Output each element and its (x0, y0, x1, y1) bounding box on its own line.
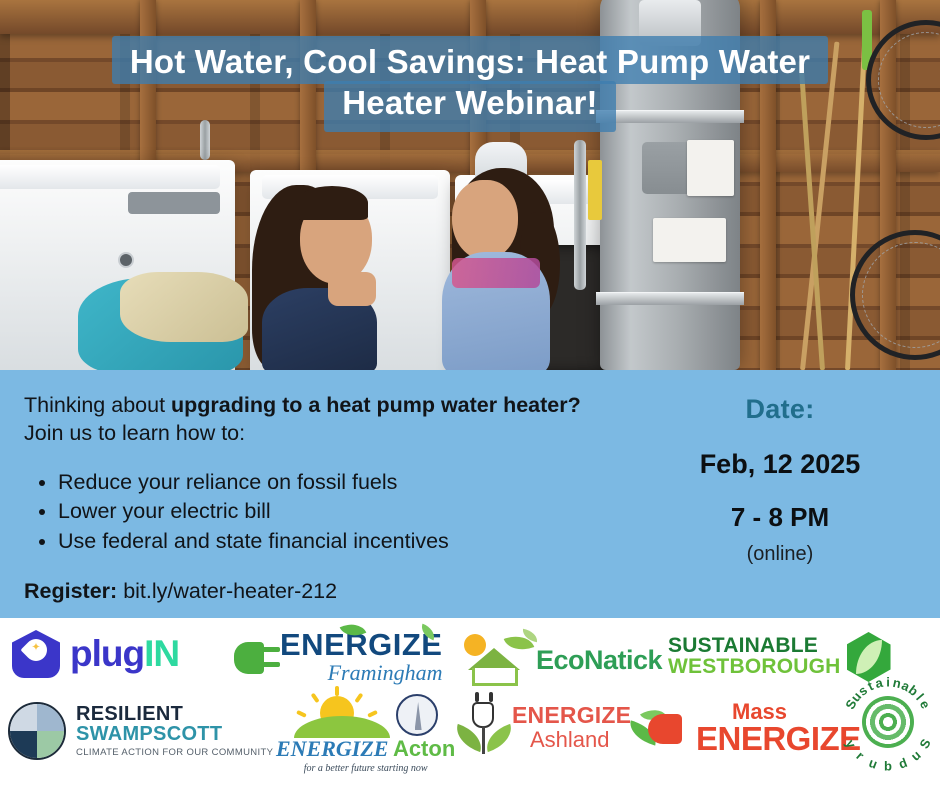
logo-sustainable-westborough-text: SUSTAINABLE WESTBOROUGH (668, 635, 841, 678)
plug-body-shape (234, 642, 264, 674)
sudbury-arc-char: d (896, 755, 909, 772)
logo-energize-ashland[interactable]: ENERGIZE Ashland (458, 700, 631, 756)
washer-lid (0, 165, 220, 189)
plug-leaves-icon (630, 702, 696, 754)
plug-plant-icon (458, 700, 510, 756)
girl-right-dress-trim (452, 258, 540, 288)
intro-post: Join us to learn how to: (24, 421, 245, 445)
town-seal-icon (8, 702, 66, 760)
sun-ray (296, 710, 307, 718)
seal-quadrant (37, 731, 64, 758)
sudbury-arc-char: b (884, 759, 892, 774)
plug-body-shape (472, 702, 494, 728)
acton-town-seal-icon (396, 694, 438, 736)
sun-shape (464, 634, 486, 656)
plug-pin-shape (262, 647, 280, 652)
plug-pin-shape (262, 662, 280, 667)
logo-plugin[interactable]: ✦ plugIN (12, 630, 179, 678)
plug-prong (489, 692, 493, 702)
girl-left-neck (328, 272, 376, 306)
gazebo-sun-leaves-icon (462, 632, 532, 688)
info-left-column: Thinking about upgrading to a heat pump … (24, 392, 614, 604)
logo-plugin-word2: IN (144, 633, 179, 674)
sun-ray (310, 693, 319, 703)
logo-energize-acton[interactable]: ENERGIZE Acton for a better future start… (276, 694, 455, 774)
tank-label (687, 140, 735, 196)
logo-plugin-text: plugIN (70, 633, 179, 675)
plant-stem (482, 726, 485, 754)
monument-shape (415, 702, 422, 730)
logo-energize-framingham[interactable]: ENERGIZE Framingham (228, 630, 442, 686)
hero-title: Hot Water, Cool Savings: Heat Pump Water… (0, 36, 940, 132)
hill-shape (294, 716, 390, 738)
date-value: Feb, 12 2025 (630, 449, 930, 480)
seal-quadrant (10, 731, 37, 758)
logo-plugin-word1: plug (70, 633, 144, 674)
girl-right-face (452, 180, 518, 260)
info-band: Thinking about upgrading to a heat pump … (0, 370, 940, 618)
logo-swampscott-word2: SWAMPSCOTT (76, 724, 273, 745)
sudbury-arc-char: u (867, 755, 880, 772)
register-url[interactable]: bit.ly/water-heater-212 (123, 579, 337, 603)
list-item: Lower your electric bill (58, 497, 614, 525)
sudbury-arc-char: u (908, 747, 924, 764)
seal-quadrant (10, 704, 37, 731)
tank-pipe (574, 140, 586, 290)
register-label: Register: (24, 579, 117, 603)
logo-swampscott-text: RESILIENT SWAMPSCOTT CLIMATE ACTION FOR … (76, 704, 273, 758)
plug-body-shape (648, 714, 682, 744)
tank-band (596, 292, 744, 305)
plug-leaf-icon (228, 640, 278, 676)
logo-acton-word1: ENERGIZE (276, 736, 388, 761)
tank-access-panel (642, 142, 692, 194)
time-value: 7 - 8 PM (630, 502, 930, 533)
partner-logos: ✦ plugIN ENERGIZE Framingham (0, 618, 940, 788)
tank-label (653, 218, 726, 262)
mode-value: (online) (630, 543, 930, 566)
plug-prong (475, 692, 479, 702)
sudbury-arc-char: a (874, 675, 884, 691)
sudbury-arc-char: S (916, 736, 933, 751)
logo-acton-word2: Acton (393, 736, 455, 761)
folded-towel (120, 272, 248, 342)
benefits-list: Reduce your reliance on fossil fuels Low… (58, 468, 614, 555)
logo-swampscott-tagline: CLIMATE ACTION FOR OUR COMMUNITY (76, 747, 273, 758)
list-item: Use federal and state financial incentiv… (58, 527, 614, 555)
washer-control-panel (128, 192, 220, 214)
sun-ray (367, 710, 378, 718)
seal-quadrant (37, 704, 64, 731)
girl-left-bangs (296, 186, 368, 220)
logo-swampscott-word1: RESILIENT (76, 704, 273, 724)
logo-acton-tagline: for a better future starting now (276, 763, 455, 774)
logo-ashland-text: ENERGIZE Ashland (512, 704, 631, 753)
sun-ray (354, 693, 363, 703)
sudbury-arc-char: y (843, 737, 860, 750)
washer-knob (118, 252, 134, 268)
gazebo-base-shape (472, 668, 518, 686)
intro-pre: Thinking about (24, 393, 171, 417)
hero-photo: Hot Water, Cool Savings: Heat Pump Water… (0, 0, 940, 370)
webinar-flyer: Hot Water, Cool Savings: Heat Pump Water… (0, 0, 940, 788)
warning-sticker (588, 160, 602, 220)
logo-westborough-word2: WESTBOROUGH (668, 656, 841, 678)
sun-ray (335, 686, 339, 696)
logo-westborough-word1: SUSTAINABLE (668, 635, 841, 656)
intro-paragraph: Thinking about upgrading to a heat pump … (24, 392, 614, 448)
register-line: Register: bit.ly/water-heater-212 (24, 579, 614, 604)
hero-title-line-1: Hot Water, Cool Savings: Heat Pump Water (112, 36, 828, 84)
logo-ashland-word1: ENERGIZE (512, 704, 631, 727)
logo-econatick-text: EcoNatick (536, 645, 662, 676)
house-water-drop-plug-icon: ✦ (12, 630, 60, 678)
leaf-shape (856, 640, 882, 674)
spiral-shape (862, 696, 914, 748)
logo-mass-energize[interactable]: Mass ENERGIZE (630, 702, 861, 754)
sunrise-hill-icon (294, 694, 390, 738)
list-item: Reduce your reliance on fossil fuels (58, 468, 614, 496)
logo-acton-text: ENERGIZE Acton for a better future start… (276, 736, 455, 774)
spark-glyph: ✦ (31, 641, 40, 654)
logo-mass-energize-text: Mass ENERGIZE (696, 702, 861, 754)
logo-mass-energize-word2: ENERGIZE (696, 723, 861, 754)
logo-resilient-swampscott[interactable]: RESILIENT SWAMPSCOTT CLIMATE ACTION FOR … (8, 702, 273, 760)
logo-ashland-word2: Ashland (530, 727, 631, 753)
info-right-column: Date: Feb, 12 2025 7 - 8 PM (online) (630, 394, 930, 566)
sudbury-arc-char: i (886, 675, 890, 690)
intro-bold: upgrading to a heat pump water heater? (171, 393, 581, 417)
sudbury-arc-char: r (853, 748, 867, 763)
logo-energize-framingham-word2: Framingham (280, 660, 442, 686)
logo-sustainable-sudbury[interactable]: Sustainable Sudbury (838, 674, 938, 774)
logo-econatick[interactable]: EcoNatick (462, 632, 662, 688)
hero-title-line-2: Heater Webinar! (324, 81, 615, 131)
green-spiral-icon: Sustainable Sudbury (838, 674, 938, 774)
date-heading: Date: (630, 394, 930, 425)
